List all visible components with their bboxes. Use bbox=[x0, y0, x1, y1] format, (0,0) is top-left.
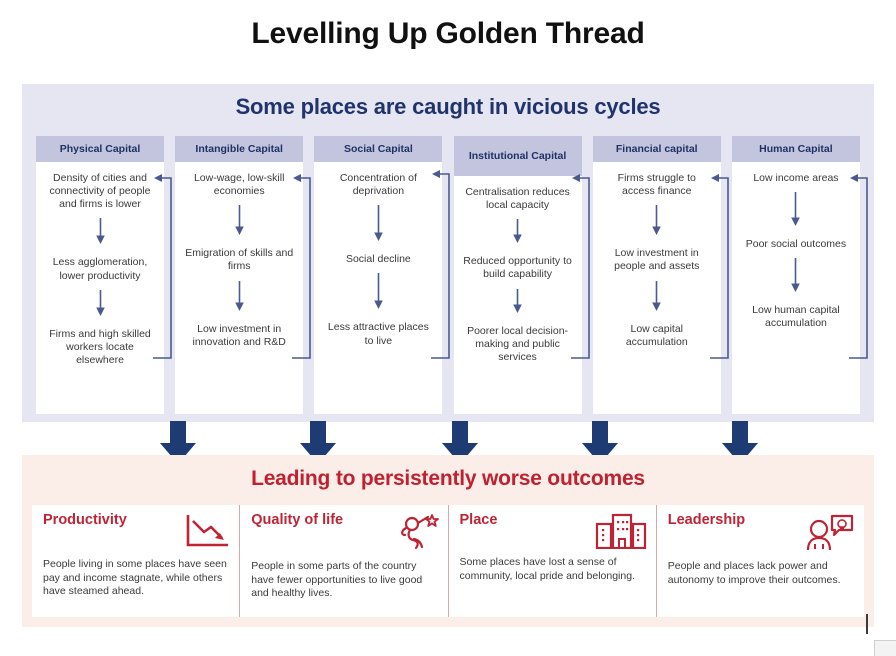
outcome-card-productivity[interactable]: Productivity People living in some place… bbox=[32, 505, 239, 617]
outcome-card-title: Productivity bbox=[43, 513, 127, 529]
cycle-step: Social decline bbox=[346, 253, 411, 266]
arrow-down-icon bbox=[233, 281, 246, 316]
cycle-step: Concentration of deprivation bbox=[322, 172, 434, 198]
arrow-down-icon bbox=[789, 192, 802, 231]
capital-column-social[interactable]: Social Capital Concentration of deprivat… bbox=[314, 136, 442, 414]
column-header-intangible: Intangible Capital bbox=[175, 136, 303, 162]
page-title: Levelling Up Golden Thread bbox=[0, 0, 896, 50]
capital-column-physical[interactable]: Physical Capital Density of cities and c… bbox=[36, 136, 164, 414]
cycle-step: Low investment in people and assets bbox=[601, 247, 713, 273]
column-header-social: Social Capital bbox=[314, 136, 442, 162]
arrow-down-icon bbox=[233, 205, 246, 240]
declining-chart-icon bbox=[184, 513, 230, 556]
dancing-person-star-icon bbox=[397, 513, 439, 558]
outcome-card-title: Quality of life bbox=[251, 513, 343, 529]
outcome-card-place[interactable]: Place bbox=[448, 505, 656, 617]
column-body-institutional: Centralisation reduces local capacity Re… bbox=[454, 176, 582, 414]
outcome-card-title: Place bbox=[460, 513, 498, 529]
cycle-step: Low investment in innovation and R&D bbox=[183, 323, 295, 349]
buildings-icon bbox=[595, 513, 647, 554]
column-header-physical: Physical Capital bbox=[36, 136, 164, 162]
column-body-financial: Firms struggle to access finance Low inv… bbox=[593, 162, 721, 414]
cycle-step: Less attractive places to live bbox=[322, 321, 434, 347]
outcomes-heading: Leading to persistently worse outcomes bbox=[22, 455, 874, 491]
outcome-card-leadership[interactable]: Leadership People and places lack power … bbox=[656, 505, 864, 617]
cycle-step: Firms struggle to access finance bbox=[601, 172, 713, 198]
arrow-down-icon bbox=[94, 290, 107, 321]
arrow-down-icon bbox=[650, 281, 663, 316]
cycle-step: Low human capital accumulation bbox=[740, 304, 852, 330]
capital-columns: Physical Capital Density of cities and c… bbox=[36, 136, 860, 414]
capital-column-intangible[interactable]: Intangible Capital Low-wage, low-skill e… bbox=[175, 136, 303, 414]
column-body-intangible: Low-wage, low-skill economies Emigration… bbox=[175, 162, 303, 414]
arrow-down-icon bbox=[511, 289, 524, 318]
outcome-card-description: People and places lack power and autonom… bbox=[668, 560, 855, 587]
arrow-down-icon bbox=[650, 205, 663, 240]
column-header-institutional: Institutional Capital bbox=[454, 136, 582, 176]
cycle-step: Emigration of skills and firms bbox=[183, 247, 295, 273]
capital-column-human[interactable]: Human Capital Low income areas Poor soci… bbox=[732, 136, 860, 414]
column-body-human: Low income areas Poor social outcomes Lo… bbox=[732, 162, 860, 414]
cycle-step: Low income areas bbox=[753, 172, 838, 185]
cycle-step: Density of cities and connectivity of pe… bbox=[44, 172, 156, 211]
arrow-down-icon bbox=[372, 205, 385, 246]
text-cursor-artifact bbox=[866, 614, 868, 634]
arrow-down-icon bbox=[511, 219, 524, 248]
outcome-card-description: People living in some places have seen p… bbox=[43, 558, 230, 599]
cycle-step: Low capital accumulation bbox=[601, 323, 713, 349]
vicious-cycles-panel: Some places are caught in vicious cycles… bbox=[22, 84, 874, 422]
column-header-financial: Financial capital bbox=[593, 136, 721, 162]
cycle-step: Poor social outcomes bbox=[746, 238, 846, 251]
arrow-down-icon bbox=[372, 273, 385, 314]
outcome-card-description: Some places have lost a sense of communi… bbox=[460, 556, 647, 583]
cycle-step: Reduced opportunity to build capability bbox=[462, 255, 574, 281]
vicious-cycles-heading: Some places are caught in vicious cycles bbox=[22, 84, 874, 120]
cycle-step: Centralisation reduces local capacity bbox=[462, 186, 574, 212]
cycle-step: Firms and high skilled workers locate el… bbox=[44, 328, 156, 367]
capital-column-institutional[interactable]: Institutional Capital Centralisation red… bbox=[454, 136, 582, 414]
column-body-physical: Density of cities and connectivity of pe… bbox=[36, 162, 164, 414]
outcomes-panel: Leading to persistently worse outcomes P… bbox=[22, 455, 874, 627]
outcome-card-title: Leadership bbox=[668, 513, 745, 529]
cycle-step: Poorer local decision-making and public … bbox=[462, 325, 574, 364]
arrow-down-icon bbox=[789, 258, 802, 297]
partial-window-artifact bbox=[874, 640, 896, 656]
cycle-step: Less agglomeration, lower productivity bbox=[44, 256, 156, 282]
column-body-social: Concentration of deprivation Social decl… bbox=[314, 162, 442, 414]
cycle-step: Low-wage, low-skill economies bbox=[183, 172, 295, 198]
outcome-cards: Productivity People living in some place… bbox=[32, 505, 864, 617]
outcome-card-description: People in some parts of the country have… bbox=[251, 560, 438, 601]
outcome-card-quality-of-life[interactable]: Quality of life People in some parts of … bbox=[239, 505, 447, 617]
arrow-down-icon bbox=[94, 218, 107, 249]
column-header-human: Human Capital bbox=[732, 136, 860, 162]
person-speech-lightbulb-icon bbox=[805, 513, 855, 558]
capital-column-financial[interactable]: Financial capital Firms struggle to acce… bbox=[593, 136, 721, 414]
